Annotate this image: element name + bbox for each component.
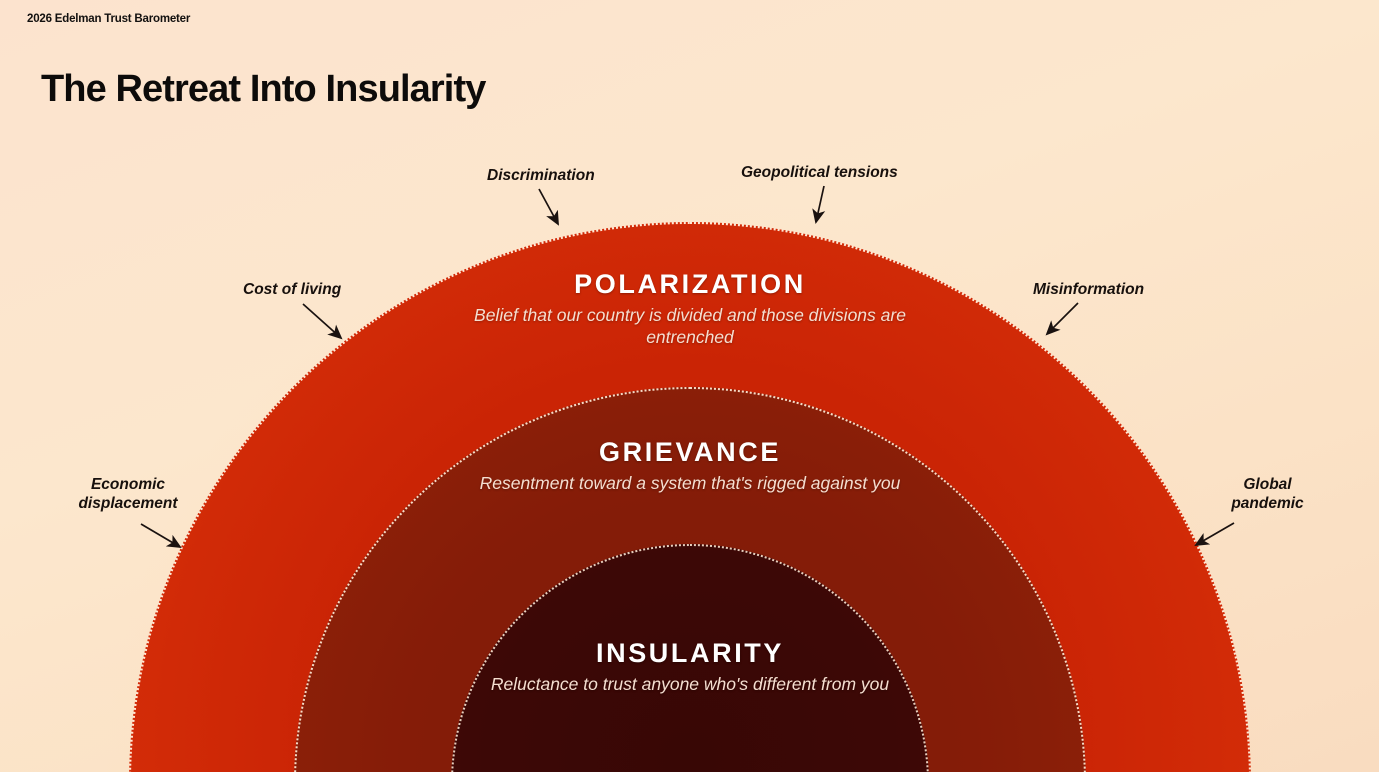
driver-label-economic-displacement: Economic displacement (48, 476, 208, 514)
driver-label-cost-of-living: Cost of living (243, 281, 341, 300)
infographic-canvas: POLARIZATION Belief that our country is … (0, 0, 1379, 772)
report-kicker: 2026 Edelman Trust Barometer (27, 13, 190, 25)
driver-label-geopolitical-tensions: Geopolitical tensions (741, 164, 898, 183)
driver-label-global-pandemic: Global pandemic (1196, 476, 1339, 514)
driver-label-discrimination: Discrimination (487, 167, 595, 186)
driver-label-misinformation: Misinformation (1033, 281, 1144, 300)
page-title: The Retreat Into Insularity (41, 68, 485, 111)
